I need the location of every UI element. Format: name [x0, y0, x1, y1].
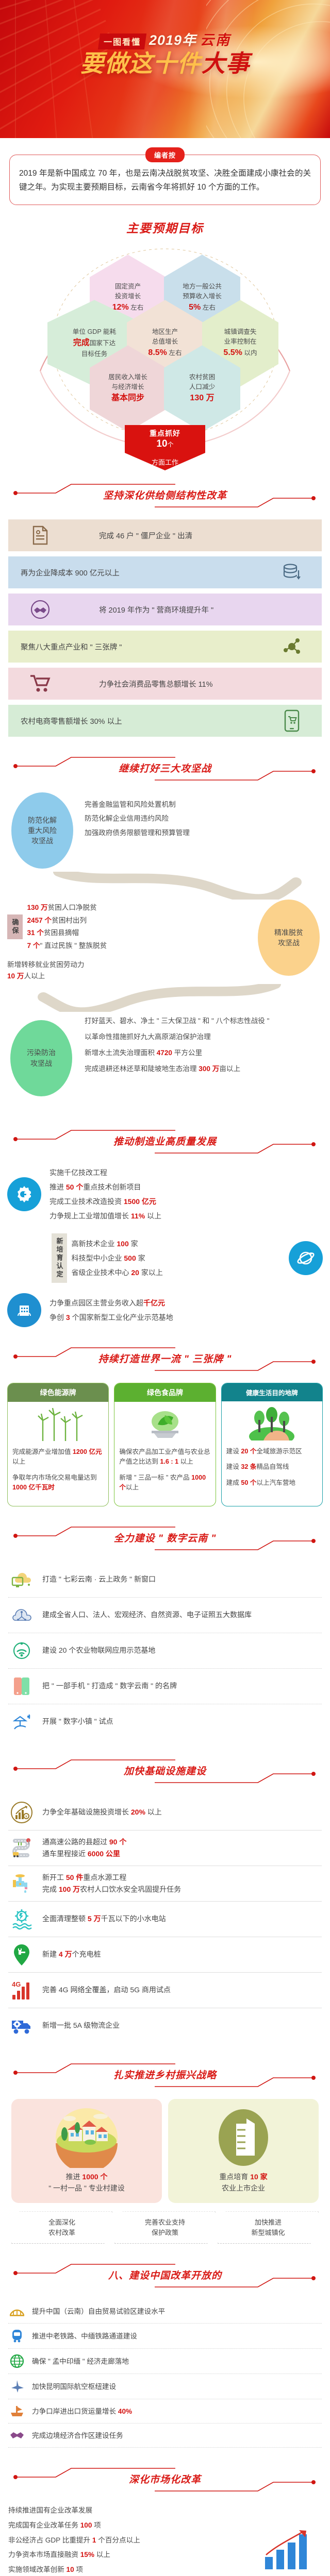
mfg-group: 新培育认定 高新技术企业 100 家 科技型中小企业 500 家 省级企业技术中…	[7, 1233, 323, 1283]
mfg-items: 力争重点园区主营业务收入超千亿元 争创 3 个国家新型工业化产业示范基地	[49, 1296, 173, 1325]
banner-row: 力争社会消费品零售总额增长 11%	[8, 668, 322, 700]
bridge-icon	[8, 2304, 26, 2318]
section-heading-2: 继续打好三大攻坚战	[0, 754, 330, 783]
train-icon	[8, 2329, 26, 2343]
list-item-text: 提升中国（云南）自由贸易试验区建设水平	[32, 2306, 165, 2317]
goals-arrow-unit: 个	[168, 441, 174, 448]
brand-card: 绿色能源牌 完成能源产业增加值 1200 亿元以上 争取年内市场化交易电量达到 …	[7, 1383, 109, 1506]
list-item: 确保 " 孟中印缅 " 经济走廊落地	[8, 2349, 322, 2374]
mfg-item: 实施千亿技改工程	[49, 1165, 161, 1180]
svg-text:¥: ¥	[25, 1815, 27, 1819]
card-item: 新增 " 三品一标 " 农产品 1000 个以上	[119, 1473, 210, 1493]
section-heading-3: 推动制造业高质量发展	[0, 1127, 330, 1156]
goals-arrow-count: 10	[156, 438, 167, 449]
factory-icon	[7, 1293, 41, 1327]
battle-extra-num: 10 万	[7, 972, 24, 980]
mfg-items: 实施千亿技改工程 推进 50 个重点技术创新项目 完成工业技术改造投资 1500…	[49, 1165, 161, 1223]
hero-province: 云南	[200, 29, 231, 49]
section-7-cards: 推进 1000 个" 一村一品 " 专业村建设 重点培育 10 家农业上市企业	[0, 2099, 330, 2204]
battle-item: 完善金融监管和风险处置机制	[85, 798, 323, 811]
section-1-title: 坚持深化供给侧结构性改革	[0, 488, 330, 502]
list-item-text: 打造 " 七彩云南 · 云上政务 " 新窗口	[42, 1573, 156, 1585]
mfg-item: 推进 50 个重点技术创新项目	[49, 1180, 161, 1194]
list-item: 新增一批 5A 级物流企业	[8, 2008, 322, 2043]
battle-items: 完善金融监管和风险处置机制 防范化解企业信用违约风险 加强政府债务限额管理和预算…	[85, 798, 323, 840]
battle-brace: 确保 130 万贫困人口净脱贫 2457 个贫困村出列 31 个贫困县摘帽 7 …	[7, 902, 117, 952]
list-item-text: 完成边境经济合作区建设任务	[32, 2430, 123, 2442]
digital-town-icon	[8, 1710, 35, 1734]
section-8-title: 八、建设中国改革开放的	[0, 2268, 330, 2282]
section-2-title: 继续打好三大攻坚战	[0, 761, 330, 775]
goal-suffix: 以内	[244, 349, 257, 357]
iot-wifi-icon	[8, 1639, 35, 1663]
editor-note-text: 2019 年是新中国成立 70 年，也是云南决战脱贫攻坚、决胜全面建成小康社会的…	[19, 166, 311, 194]
battle-extra-rest: 人以上	[24, 972, 45, 980]
goals-hex-grid: 固定资产投资增长12% 左右 地方一般公共预算收入增长5% 左右 单位 GDP …	[52, 255, 278, 430]
list-item: 开展 " 数字小镇 " 试点	[8, 1704, 322, 1739]
goal-value: 8.5%	[148, 348, 167, 357]
section-6-rows: ¥ 力争全年基础设施投资增长 20% 以上 通高速公路的县超过 90 个 通车里…	[0, 1795, 330, 2043]
section-heading-1: 坚持深化供给侧结构性改革	[0, 481, 330, 510]
growth-chart-icon: ¥	[8, 1801, 35, 1824]
banner-row: 将 2019 年作为 " 营商环境提升年 "	[8, 594, 322, 625]
list-item-text: 开展 " 数字小镇 " 试点	[42, 1716, 113, 1727]
card-items: 建设 20 个全域旅游示范区 建设 32 条精品自驾线 建成 50 个以上汽车营…	[222, 1443, 322, 1501]
hero-banner: 一图看懂 2019年 云南 要做这十件大事	[0, 0, 330, 138]
logistics-truck-icon	[8, 2014, 35, 2038]
section-2-battles: 防范化解 重大风险 攻坚战 完善金融监管和风险处置机制 防范化解企业信用违约风险…	[0, 792, 330, 1109]
battle-item: 加强政府债务限额管理和预算管理	[85, 826, 323, 840]
battle-item: 打好蓝天、碧水、净土 " 三大保卫战 " 和 " 八个标志性战役 "	[85, 1015, 323, 1027]
rural-card: 重点培育 10 家农业上市企业	[168, 2099, 319, 2204]
battle-label-poverty: 精准脱贫 攻坚战	[258, 900, 320, 976]
list-item: 力争口岸进出口货运量增长 40%	[8, 2399, 322, 2424]
goal-value: 完成	[73, 338, 90, 347]
battle-connector-2	[7, 984, 323, 1012]
brace-key: 新培育认定	[52, 1233, 67, 1283]
card-items: 确保农产品加工业产值与农业总产值之比达到 1.6 : 1 以上 新增 " 三品一…	[114, 1443, 215, 1506]
list-item-text: 全面清理整顿 5 万千瓦以下的小水电站	[42, 1913, 166, 1924]
brand-card: 绿色食品牌 确保农产品加工业产值与农业总产值之比达到 1.6 : 1 以上 新增…	[114, 1383, 216, 1506]
wind-turbines-icon	[8, 1402, 108, 1443]
cloud-monitor-icon	[8, 1568, 35, 1591]
goal-suffix: 左右	[169, 349, 181, 357]
banner-text: 力争社会消费品零售总额增长 11%	[99, 679, 212, 689]
chip: 加快推进 新型城镇化	[218, 2211, 319, 2244]
list-item: 推进中老铁路、中缅铁路通道建设	[8, 2324, 322, 2349]
battle-block: 防范化解 重大风险 攻坚战 完善金融监管和风险处置机制 防范化解企业信用违约风险…	[7, 792, 323, 870]
goal-label: 农村贫困人口减少	[189, 374, 215, 391]
port-icon	[8, 2404, 26, 2418]
section-7-chips: 全面深化 农村改革 完善农业支持 保护政策 加快推进 新型城镇化	[0, 2203, 330, 2244]
editor-note-badge: 编者按	[145, 147, 185, 162]
trees-hill-icon	[222, 1401, 322, 1443]
card-item: 确保农产品加工业产值与农业总产值之比达到 1.6 : 1 以上	[119, 1447, 210, 1467]
handshake2-icon	[8, 2429, 26, 2442]
battle-item: 以革命性措施抓好九大高原湖泊保护治理	[85, 1031, 323, 1043]
gear-chip-icon	[7, 1177, 41, 1211]
faucet-icon	[8, 1872, 35, 1895]
list-item-text: 建设 20 个农业物联网应用示范基地	[42, 1645, 155, 1656]
battle-item: 防范化解企业信用违约风险	[85, 811, 323, 825]
section-heading-9: 深化市场化改革	[0, 2465, 330, 2494]
section-5-title: 全力建设 " 数字云南 "	[0, 1531, 330, 1545]
list-item-text: 建成全省人口、法人、宏观经济、自然资源、电子证照五大数据库	[42, 1609, 252, 1620]
svg-text:4G: 4G	[12, 1980, 21, 1988]
battle-extra: 新增转移就业贫困劳动力 10 万人以上	[7, 959, 245, 982]
building-one-icon	[173, 2107, 313, 2168]
goal-label: 城镇调查失业率控制在	[224, 328, 257, 345]
goal-label: 地区生产总值增长	[152, 328, 178, 345]
mfg-item: 完成工业技术改造投资 1500 亿元	[49, 1194, 161, 1209]
card-item: 完成能源产业增加值 1200 亿元以上	[12, 1447, 104, 1467]
brace-item: 7 个" 直过民族 " 整族脱贫	[27, 940, 107, 952]
goal-label: 居民收入增长与经济增长	[108, 374, 147, 391]
list-item: 通高速公路的县超过 90 个 通车里程接近 6000 公里	[8, 1831, 322, 1866]
list-item: 4G 完善 4G 网络全覆盖，启动 5G 商用试点	[8, 1973, 322, 2008]
brand-card: 健康生活目的地牌 建设 20 个全域旅游示范区 建设 32 条精品自驾线 建成 …	[221, 1383, 323, 1506]
rural-card-text: 重点培育 10 家农业上市企业	[173, 2171, 313, 2194]
goal-suffix: 左右	[203, 304, 216, 311]
section-heading-8: 八、建设中国改革开放的	[0, 2261, 330, 2290]
goal-value: 5%	[189, 303, 201, 312]
planet-icon	[289, 1241, 323, 1275]
banner-text: 将 2019 年作为 " 营商环境提升年 "	[99, 604, 213, 615]
coins-down-icon	[267, 562, 317, 583]
brace-item: 31 个贫困县摘帽	[27, 927, 107, 939]
section-heading-6: 加快基础设施建设	[0, 1757, 330, 1786]
goals-section: 主要预期目标 固定资产投资增长12% 左右 地方一般公共预算收入增长5% 左右 …	[0, 216, 330, 464]
globe-icon	[8, 2354, 26, 2368]
section-8-rows: 提升中国（云南）自由贸易试验区建设水平 推进中老铁路、中缅铁路通道建设 确保 "…	[0, 2299, 330, 2448]
battle-item: 新增水土流失治理面积 4720 平方公里	[85, 1047, 323, 1059]
brace-item: 130 万贫困人口净脱贫	[27, 902, 107, 914]
brace-items: 130 万贫困人口净脱贫 2457 个贫困村出列 31 个贫困县摘帽 7 个" …	[27, 902, 107, 952]
rural-card-text: 推进 1000 个" 一村一品 " 专业村建设	[16, 2171, 157, 2194]
document-icon	[15, 525, 65, 546]
network-icon	[267, 636, 317, 657]
list-item: 全面清理整顿 5 万千瓦以下的小水电站	[8, 1902, 322, 1937]
section-1-banners: 完成 46 户 " 僵尸企业 " 出清 再为企业降成本 900 亿元以上 将 2…	[0, 519, 330, 737]
reform-item: 完成国有企业改革任务 100 项	[8, 2518, 250, 2533]
list-item: 完成边境经济合作区建设任务	[8, 2424, 322, 2448]
mfg-item: 力争规上工业增加值增长 11% 以上	[49, 1209, 161, 1223]
highway-icon	[8, 1836, 35, 1860]
reform-growth-chart	[261, 2523, 322, 2575]
section-4-cards: 绿色能源牌 完成能源产业增加值 1200 亿元以上 争取年内市场化交易电量达到 …	[0, 1383, 330, 1506]
list-item-text: 通高速公路的县超过 90 个 通车里程接近 6000 公里	[42, 1836, 126, 1859]
list-item-text: 力争口岸进出口货运量增长 40%	[32, 2406, 132, 2417]
card-item: 建设 20 个全域旅游示范区	[226, 1447, 318, 1457]
banner-row: 聚焦八大重点产业和 " 三张牌 "	[8, 631, 322, 663]
village-icon	[16, 2107, 157, 2168]
list-item-text: 力争全年基础设施投资增长 20% 以上	[42, 1806, 162, 1818]
hero-line-2: 要做这十件大事	[0, 52, 330, 76]
hero-line-1: 一图看懂 2019年 云南	[99, 29, 231, 49]
battle-extra-label: 新增转移就业贫困劳动力	[7, 959, 245, 971]
list-item: 建成全省人口、法人、宏观经济、自然资源、电子证照五大数据库	[8, 1598, 322, 1633]
goal-value: 130 万	[190, 394, 214, 402]
chip: 完善农业支持 保护政策	[114, 2211, 216, 2244]
goals-arrow-line3: 方面工作	[125, 457, 205, 467]
mobile-cart-icon	[267, 709, 317, 732]
list-item-text: 新建 4 万个充电桩	[42, 1948, 101, 1960]
hero-headline-red: 大事	[202, 50, 250, 77]
goals-focus-arrow: 重点抓好 10个 方面工作	[125, 425, 205, 467]
battle-block: 精准脱贫 攻坚战 确保 130 万贫困人口净脱贫 2457 个贫困村出列 31 …	[7, 900, 323, 981]
goal-label: 固定资产投资增长	[115, 283, 141, 300]
section-heading-7: 扎实推进乡村振兴战略	[0, 2061, 330, 2090]
goal-value: 5.5%	[223, 348, 242, 357]
list-item-text: 完善 4G 网络全覆盖，启动 5G 商用试点	[42, 1984, 171, 1995]
card-title: 绿色食品牌	[114, 1383, 215, 1402]
section-5-rows: 打造 " 七彩云南 · 云上政务 " 新窗口 建成全省人口、法人、宏观经济、自然…	[0, 1562, 330, 1739]
section-9-reform: 持续推进国有企业改革发展 完成国有企业改革任务 100 项 非公经济占 GDP …	[0, 2503, 330, 2576]
charging-pin-icon	[8, 1943, 35, 1967]
list-item: 把 " 一部手机 " 打造成 " 数字云南 " 的名牌	[8, 1669, 322, 1704]
hero-headline-gold: 要做这十件	[80, 50, 202, 77]
section-heading-5: 全力建设 " 数字云南 "	[0, 1524, 330, 1553]
section-3-title: 推动制造业高质量发展	[0, 1134, 330, 1148]
brace-item: 2457 个贫困村出列	[27, 914, 107, 927]
brace-item: 科技型中小企业 500 家	[72, 1251, 163, 1265]
section-9-title: 深化市场化改革	[0, 2472, 330, 2486]
battle-connector-1	[7, 872, 323, 900]
battle-label-pollution: 污染防治 攻坚战	[10, 1020, 72, 1096]
goal-label: 单位 GDP 能耗	[73, 328, 116, 335]
list-item-text: 加快昆明国际航空枢纽建设	[32, 2381, 116, 2393]
signal-4g-icon: 4G	[8, 1978, 35, 2002]
vegetables-icon	[114, 1402, 215, 1443]
battle-items: 打好蓝天、碧水、净土 " 三大保卫战 " 和 " 八个标志性战役 " 以革命性措…	[85, 1015, 323, 1075]
section-7-title: 扎实推进乡村振兴战略	[0, 2067, 330, 2081]
rural-card: 推进 1000 个" 一村一品 " 专业村建设	[11, 2099, 162, 2204]
mfg-group: 实施千亿技改工程 推进 50 个重点技术创新项目 完成工业技术改造投资 1500…	[7, 1165, 323, 1223]
chip: 全面深化 农村改革	[11, 2211, 112, 2244]
banner-text: 聚焦八大重点产业和 " 三张牌 "	[21, 641, 122, 652]
list-item-text: 把 " 一部手机 " 打造成 " 数字云南 " 的名牌	[42, 1680, 177, 1691]
card-title: 绿色能源牌	[8, 1383, 108, 1402]
mfg-item: 力争重点园区主营业务收入超千亿元	[49, 1296, 173, 1310]
section-4-title: 持续打造世界一流 " 三张牌 "	[0, 1351, 330, 1365]
card-item: 争取年内市场化交易电量达到 1000 亿千瓦时	[12, 1473, 104, 1493]
goal-suffix: 左右	[130, 304, 143, 311]
hero-year: 2019年	[149, 29, 196, 49]
banner-row: 农村电商零售额增长 30% 以上	[8, 705, 322, 737]
brace-item: 省级企业技术中心 20 家以上	[72, 1265, 163, 1280]
airplane-icon	[8, 2379, 26, 2394]
cloud-data-icon	[8, 1603, 35, 1627]
list-item-text: 新开工 50 件重点水源工程 完成 100 万农村人口饮水安全巩固提升任务	[42, 1872, 181, 1895]
cart-icon	[15, 674, 65, 693]
list-item: ¥ 力争全年基础设施投资增长 20% 以上	[8, 1795, 322, 1831]
battle-item: 完成退耕还林还草和陡坡地生态治理 300 万亩以上	[85, 1063, 323, 1075]
hydro-power-icon	[8, 1907, 35, 1931]
goals-arrow-line1: 重点抓好	[150, 428, 180, 438]
infographic-page: 一图看懂 2019年 云南 要做这十件大事 编者按 2019 年是新中国成立 7…	[0, 0, 330, 2576]
list-item: 提升中国（云南）自由贸易试验区建设水平	[8, 2299, 322, 2324]
section-heading-4: 持续打造世界一流 " 三张牌 "	[0, 1345, 330, 1374]
goals-title: 主要预期目标	[0, 218, 330, 236]
card-item: 建设 32 条精品自驾线	[226, 1462, 318, 1472]
battle-block: 污染防治 攻坚战 打好蓝天、碧水、净土 " 三大保卫战 " 和 " 八个标志性战…	[7, 1012, 323, 1105]
reform-item: 实施领域改革创新 10 项	[8, 2563, 250, 2576]
list-item: 新建 4 万个充电桩	[8, 1937, 322, 1973]
list-item-text: 确保 " 孟中印缅 " 经济走廊落地	[32, 2356, 129, 2367]
reform-item: 非公经济占 GDP 比重提升 1 个百分点以上	[8, 2533, 250, 2548]
two-phones-icon	[8, 1674, 35, 1698]
section-3-manufacturing: 实施千亿技改工程 推进 50 个重点技术创新项目 完成工业技术改造投资 1500…	[0, 1165, 330, 1327]
hero-title-block: 一图看懂 2019年 云南 要做这十件大事	[0, 29, 330, 76]
list-item-text: 新增一批 5A 级物流企业	[42, 2020, 120, 2031]
banner-row: 再为企业降成本 900 亿元以上	[8, 556, 322, 588]
list-item-text: 推进中老铁路、中缅铁路通道建设	[32, 2331, 137, 2342]
banner-text: 农村电商零售额增长 30% 以上	[21, 716, 122, 726]
list-item: 新开工 50 件重点水源工程 完成 100 万农村人口饮水安全巩固提升任务	[8, 1866, 322, 1902]
handshake-icon	[15, 599, 65, 620]
editor-note: 编者按 2019 年是新中国成立 70 年，也是云南决战脱贫攻坚、决胜全面建成小…	[9, 155, 321, 205]
list-item: 打造 " 七彩云南 · 云上政务 " 新窗口	[8, 1562, 322, 1598]
list-item: 加快昆明国际航空枢纽建设	[8, 2374, 322, 2399]
brace-items: 高新技术企业 100 家 科技型中小企业 500 家 省级企业技术中心 20 家…	[72, 1236, 163, 1280]
goal-label: 地方一般公共预算收入增长	[183, 283, 222, 300]
card-title: 健康生活目的地牌	[222, 1383, 322, 1401]
card-items: 完成能源产业增加值 1200 亿元以上 争取年内市场化交易电量达到 1000 亿…	[8, 1443, 108, 1506]
goal-value: 基本同步	[111, 394, 144, 402]
hero-kicker-badge: 一图看懂	[98, 33, 146, 49]
battle-label-risk: 防范化解 重大风险 攻坚战	[11, 792, 73, 869]
reform-item: 力争资本市场直接融资 15% 以上	[8, 2548, 250, 2563]
brace-key: 确保	[7, 914, 23, 939]
section-6-title: 加快基础设施建设	[0, 1764, 330, 1777]
mfg-brace: 新培育认定 高新技术企业 100 家 科技型中小企业 500 家 省级企业技术中…	[52, 1233, 203, 1283]
card-item: 建成 50 个以上汽车营地	[226, 1478, 318, 1488]
brace-item: 高新技术企业 100 家	[72, 1236, 163, 1251]
reform-item: 持续推进国有企业改革发展	[8, 2503, 250, 2518]
mfg-item: 争创 3 个国家新型工业化产业示范基地	[49, 1310, 173, 1325]
banner-text: 再为企业降成本 900 亿元以上	[21, 567, 120, 578]
banner-row: 完成 46 户 " 僵尸企业 " 出清	[8, 519, 322, 551]
list-item: 建设 20 个农业物联网应用示范基地	[8, 1633, 322, 1669]
banner-text: 完成 46 户 " 僵尸企业 " 出清	[99, 530, 192, 541]
mfg-group: 力争重点园区主营业务收入超千亿元 争创 3 个国家新型工业化产业示范基地	[7, 1293, 323, 1327]
